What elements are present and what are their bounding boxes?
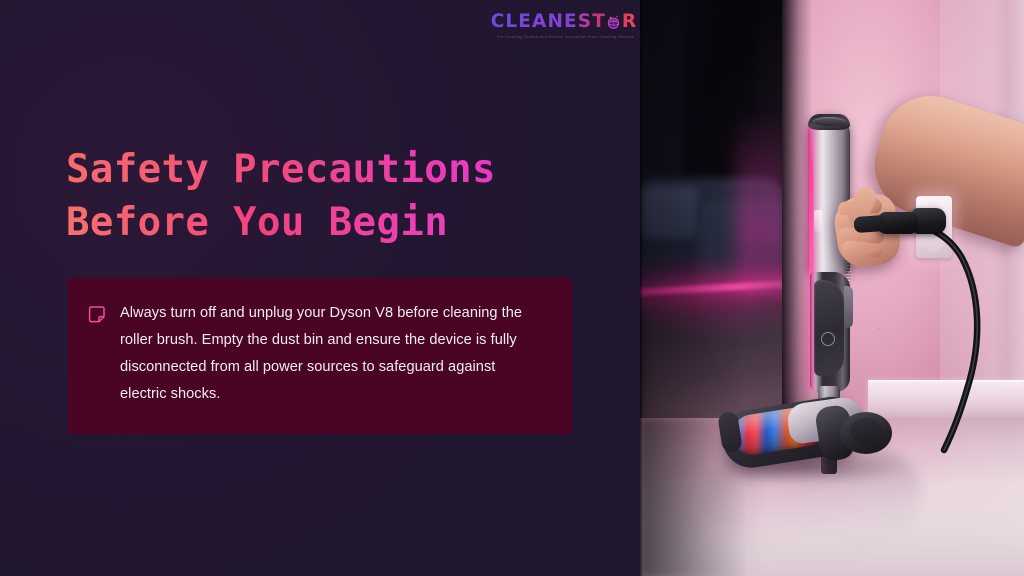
cushion-shape (642, 186, 698, 238)
globe-icon (606, 15, 621, 30)
hero-photo (640, 0, 1024, 576)
page-title: Safety Precautions Before You Begin (66, 143, 496, 249)
logo-wordmark: CLEANE ST R (497, 13, 631, 32)
safety-callout-box: Always turn off and unplug your Dyson V8… (68, 278, 572, 434)
power-cable (840, 200, 1024, 450)
logo-text-part-2: ST (578, 13, 606, 32)
photo-left-edge-shadow (640, 0, 643, 576)
logo-tagline: Pro Cleaning Guides And Service Journali… (497, 35, 631, 39)
logo-text-part-1: CLEANE (491, 13, 578, 32)
vacuum-brand-mark (821, 332, 835, 346)
safety-callout-text: Always turn off and unplug your Dyson V8… (120, 300, 546, 408)
vacuum-indicator-light (814, 210, 822, 232)
vacuum-top-opening (813, 117, 845, 126)
logo-text-part-3: R (622, 13, 637, 32)
slide-canvas: Safety Precautions Before You Begin Alwa… (0, 0, 1024, 576)
photo-scene (640, 0, 1024, 576)
sticky-note-icon (88, 306, 106, 324)
headline-line-1: Safety Precautions (66, 143, 496, 196)
headline-line-2: Before You Begin (66, 196, 496, 249)
power-plug-grip (853, 215, 886, 233)
brand-logo[interactable]: CLEANE ST R Pro Cleaning Guides And Serv… (497, 13, 631, 39)
